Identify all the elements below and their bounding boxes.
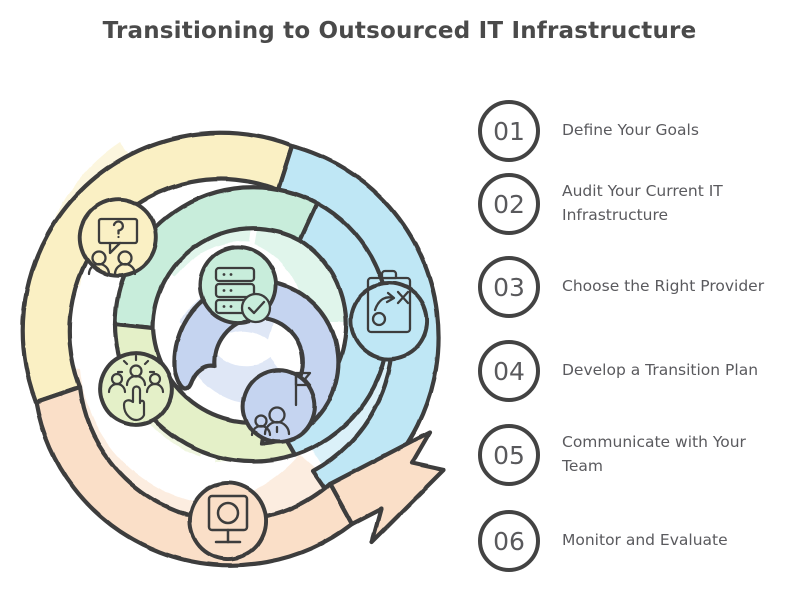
step-number-06: 06: [493, 527, 525, 556]
step-number-04: 04: [493, 357, 525, 386]
spiral-diagram: [0, 72, 470, 603]
step-badge-02: 02: [478, 173, 540, 235]
step-label-02: Audit Your Current IT Infrastructure: [562, 180, 787, 227]
step-label-05: Communicate with Your Team: [562, 431, 787, 478]
step-item-02[interactable]: 02 Audit Your Current IT Infrastructure: [470, 169, 799, 239]
steps-list: 01 Define Your Goals 02 Audit Your Curre…: [470, 96, 799, 596]
step-badge-06: 06: [478, 510, 540, 572]
page-title: Transitioning to Outsourced IT Infrastru…: [0, 18, 799, 44]
infographic-page: Transitioning to Outsourced IT Infrastru…: [0, 0, 799, 603]
step-number-05: 05: [493, 441, 525, 470]
step-number-02: 02: [493, 190, 525, 219]
step-label-04: Develop a Transition Plan: [562, 359, 758, 383]
question-speech-bubble-people-icon: [80, 199, 156, 276]
step-label-03: Choose the Right Provider: [562, 275, 764, 299]
step-number-01: 01: [493, 117, 525, 146]
step-item-06[interactable]: 06 Monitor and Evaluate: [470, 506, 799, 576]
step-badge-03: 03: [478, 256, 540, 318]
step-item-03[interactable]: 03 Choose the Right Provider: [470, 252, 799, 322]
step-label-06: Monitor and Evaluate: [562, 529, 728, 553]
step-badge-01: 01: [478, 100, 540, 162]
team-pointing-hand-icon: [100, 353, 172, 425]
step-number-03: 03: [493, 273, 525, 302]
step-item-05[interactable]: 05 Communicate with Your Team: [470, 420, 799, 490]
step-item-01[interactable]: 01 Define Your Goals: [470, 96, 799, 166]
monitor-screen-icon: [190, 483, 266, 559]
step-badge-04: 04: [478, 340, 540, 402]
step-item-04[interactable]: 04 Develop a Transition Plan: [470, 336, 799, 406]
step-badge-05: 05: [478, 424, 540, 486]
server-check-icon: [200, 247, 276, 323]
people-flag-icon: [243, 370, 315, 442]
step-label-01: Define Your Goals: [562, 119, 699, 143]
